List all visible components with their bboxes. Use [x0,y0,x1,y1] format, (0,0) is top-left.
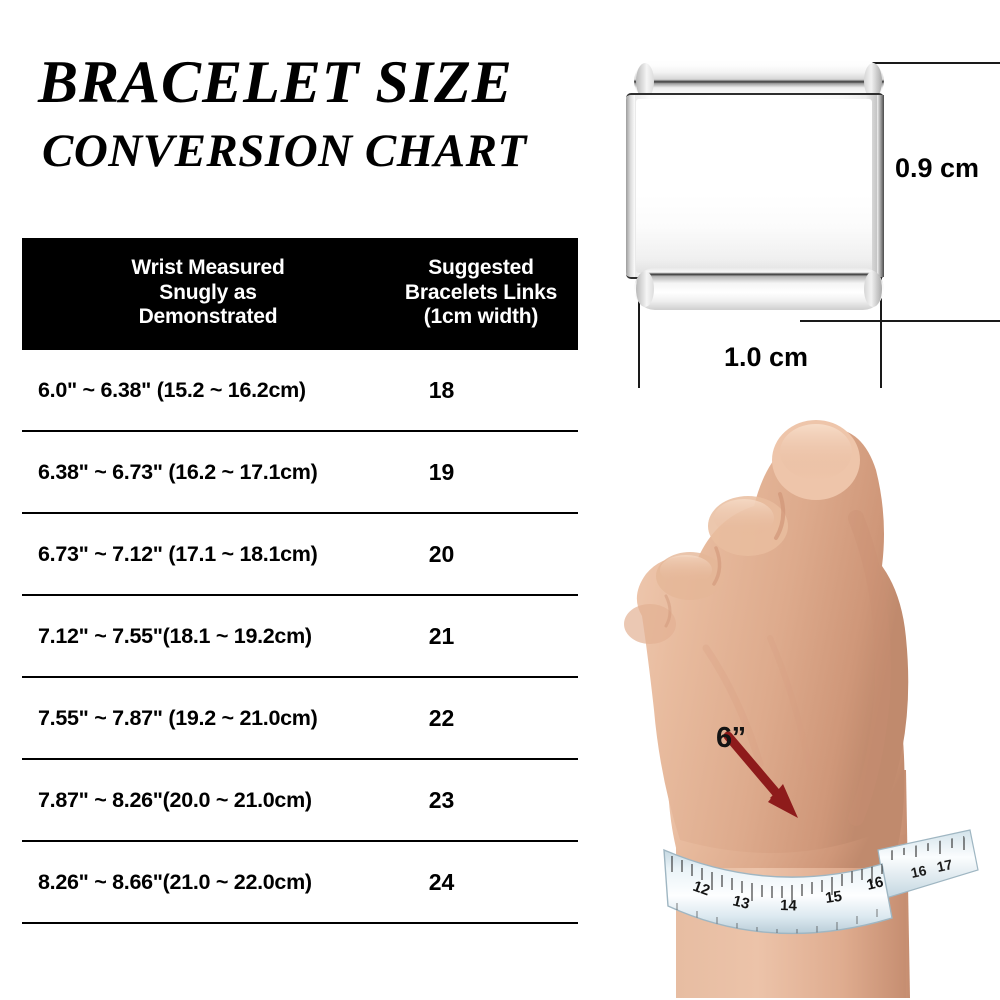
cell-wrist-range: 7.12" ~ 7.55"(18.1 ~ 19.2cm) [22,624,390,649]
svg-text:15: 15 [824,888,843,907]
column-header-wrist: Wrist Measured Snugly as Demonstrated [22,256,390,330]
wrist-size-annotation: 6” [716,722,746,755]
link-bottom-rail [634,268,884,310]
table-row: 8.26" ~ 8.66"(21.0 ~ 22.0cm) 24 [22,842,578,924]
link-plate-left-edge [626,95,635,277]
table-row: 7.12" ~ 7.55"(18.1 ~ 19.2cm) 21 [22,596,578,678]
column-header-wrist-line2: Snugly as [26,281,390,306]
column-header-wrist-line3: Demonstrated [26,305,390,330]
link-face-plate [626,93,884,279]
cell-wrist-range: 7.55" ~ 7.87" (19.2 ~ 21.0cm) [22,706,390,731]
svg-text:14: 14 [780,897,798,915]
cell-link-count: 23 [390,787,578,814]
cell-link-count: 19 [390,459,578,486]
table-row: 6.0" ~ 6.38" (15.2 ~ 16.2cm) 18 [22,350,578,432]
page-title-line2: CONVERSION CHART [42,128,527,175]
table-row: 6.38" ~ 6.73" (16.2 ~ 17.1cm) 19 [22,432,578,514]
table-row: 6.73" ~ 7.12" (17.1 ~ 18.1cm) 20 [22,514,578,596]
cell-wrist-range: 6.0" ~ 6.38" (15.2 ~ 16.2cm) [22,378,390,403]
cell-link-count: 21 [390,623,578,650]
cell-wrist-range: 6.73" ~ 7.12" (17.1 ~ 18.1cm) [22,542,390,567]
cell-link-count: 22 [390,705,578,732]
wrist-measurement-photo: 16 17 [620,398,996,998]
link-width-label: 1.0 cm [724,342,808,373]
bracelet-link-diagram: 0.9 cm 1.0 cm [612,48,1000,388]
bracelet-link-icon [634,60,884,310]
cell-wrist-range: 6.38" ~ 6.73" (16.2 ~ 17.1cm) [22,460,390,485]
column-header-links-line2: Bracelets Links [390,281,572,306]
link-plate-surface [636,99,872,273]
table-header-row: Wrist Measured Snugly as Demonstrated Su… [22,238,578,350]
cell-wrist-range: 7.87" ~ 8.26"(20.0 ~ 21.0cm) [22,788,390,813]
bracelet-size-chart-page: BRACELET SIZE CONVERSION CHART Wrist Mea… [0,0,1000,1000]
dimension-line-bottom [800,320,1000,322]
cell-link-count: 24 [390,869,578,896]
link-height-label: 0.9 cm [895,153,979,184]
column-header-wrist-line1: Wrist Measured [26,256,390,281]
conversion-table: Wrist Measured Snugly as Demonstrated Su… [22,238,578,924]
cell-link-count: 20 [390,541,578,568]
column-header-links: Suggested Bracelets Links (1cm width) [390,256,578,330]
page-title-line1: BRACELET SIZE [38,52,513,112]
cell-link-count: 18 [390,377,578,404]
table-row: 7.55" ~ 7.87" (19.2 ~ 21.0cm) 22 [22,678,578,760]
column-header-links-line3: (1cm width) [390,305,572,330]
cell-wrist-range: 8.26" ~ 8.66"(21.0 ~ 22.0cm) [22,870,390,895]
table-row: 7.87" ~ 8.26"(20.0 ~ 21.0cm) 23 [22,760,578,842]
link-plate-right-edge [877,95,884,277]
column-header-links-line1: Suggested [390,256,572,281]
